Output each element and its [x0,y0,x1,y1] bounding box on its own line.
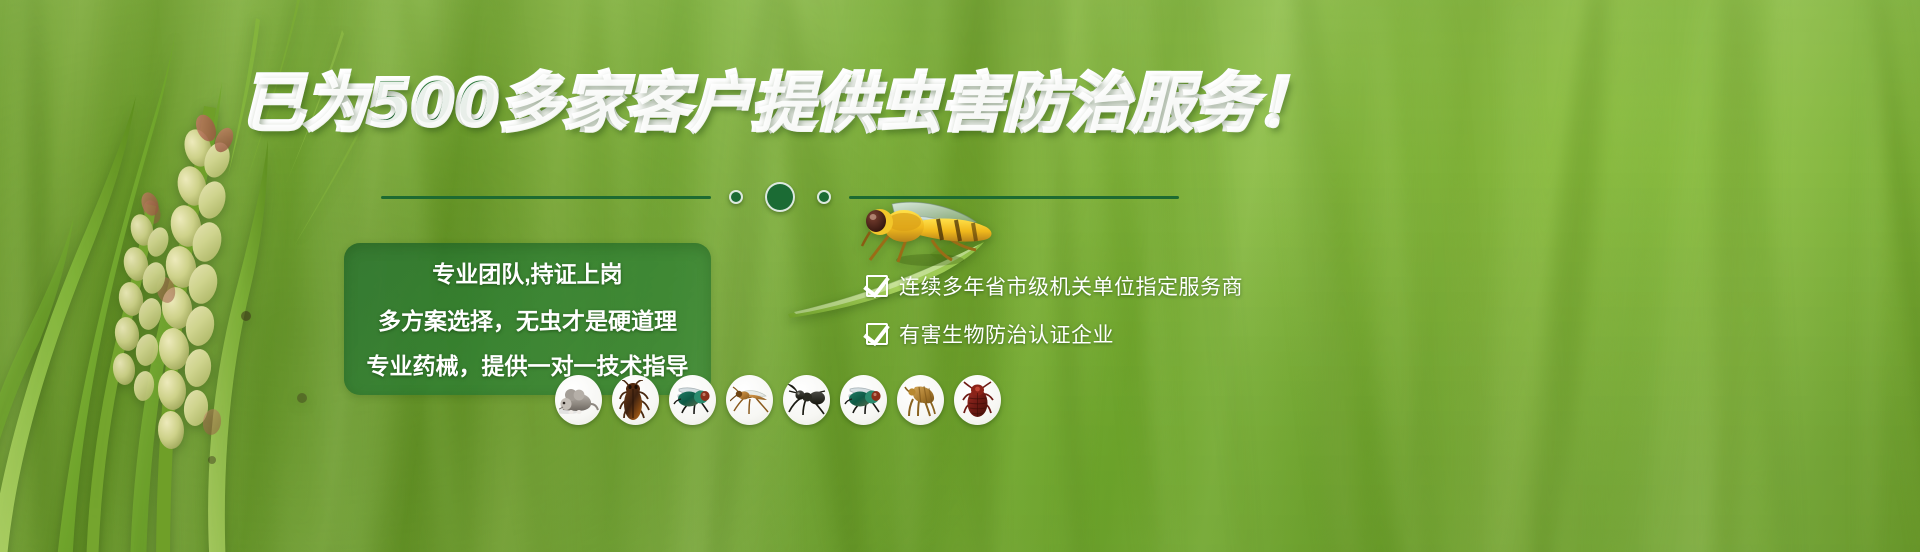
checkbox-checked-icon [866,275,888,297]
service-highlights-panel: 专业团队,持证上岗 多方案选择，无虫才是硬道理 专业药械，提供一对一技术指导 [344,243,711,395]
mosquito-icon [726,375,773,425]
ant-icon [783,375,830,425]
promo-banner: 已为500多家客户提供虫害防治服务！ [0,0,1920,552]
mouse-icon [555,375,602,425]
fly-icon [669,375,716,425]
banner-headline-text: 已为500多家客户提供虫害防治服务！ [241,66,1318,139]
dot-small-icon [729,190,743,204]
pest-types-row [555,375,1001,425]
checklist-item-label: 有害生物防治认证企业 [899,319,1114,349]
panel-line-1: 专业团队,持证上岗 [432,263,622,286]
checkbox-checked-icon [866,323,888,345]
checklist-item: 有害生物防治认证企业 [866,320,1243,348]
divider-rule-left [381,196,711,199]
checklist-item-label: 连续多年省市级机关单位指定服务商 [899,271,1243,301]
bedbug-icon [954,375,1001,425]
cockroach-icon [612,375,659,425]
flea-icon [897,375,944,425]
credentials-checklist: 连续多年省市级机关单位指定服务商 有害生物防治认证企业 [866,272,1243,348]
fly-icon [840,375,887,425]
panel-line-2: 多方案选择，无虫才是硬道理 [378,310,677,333]
checklist-item: 连续多年省市级机关单位指定服务商 [866,272,1243,300]
banner-headline: 已为500多家客户提供虫害防治服务！ [0,72,1560,134]
